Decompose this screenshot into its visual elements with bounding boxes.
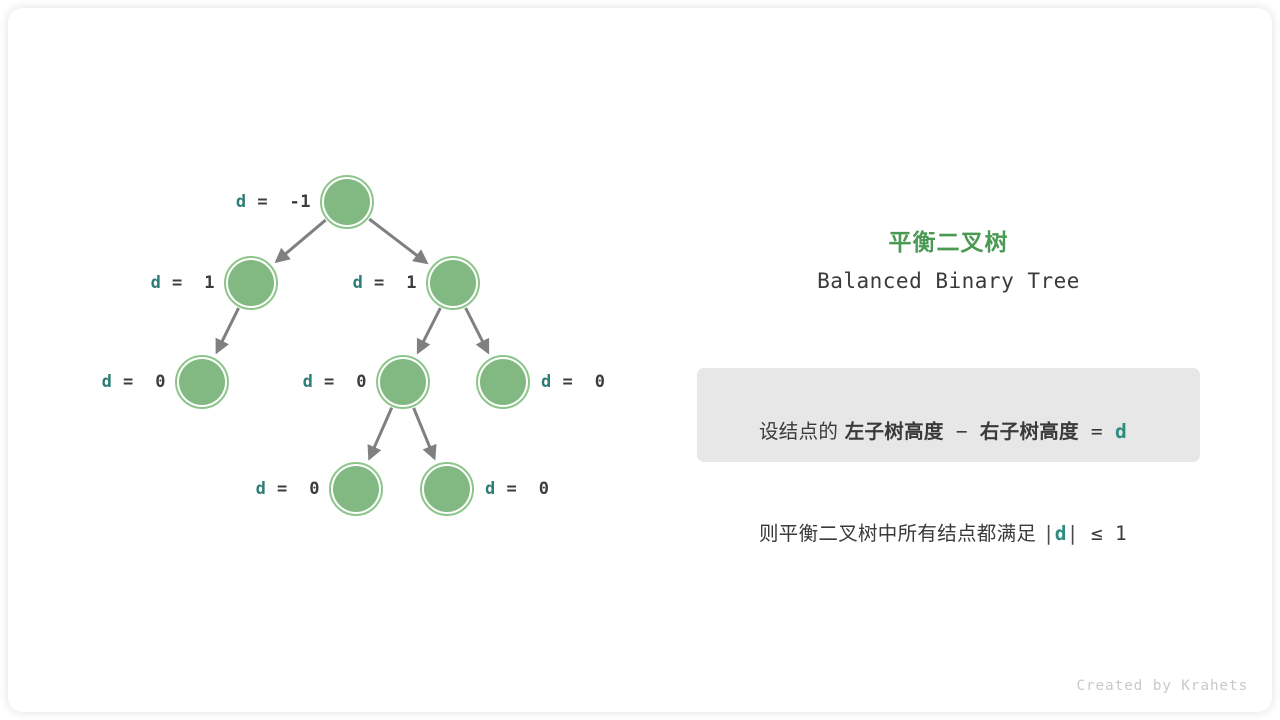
balance-value: = 1 [363,273,417,293]
node-balance-label: d = 0 [102,372,166,392]
tree-node[interactable] [480,359,526,405]
legend-panel: 平衡二叉树 Balanced Binary Tree [697,228,1200,292]
tree-edge [466,308,488,352]
tree-edge [418,308,440,352]
node-balance-label: d = 1 [151,273,215,293]
tree-node[interactable] [430,260,476,306]
variable-d: d [485,479,496,499]
variable-d: d [1115,420,1127,443]
tree-edge [369,219,426,263]
term-right-subtree-height: 右子树高度 [980,420,1079,443]
relation-leq-one: ≤ 1 [1079,522,1127,545]
variable-d: d [353,273,364,293]
tree-node[interactable] [424,466,470,512]
node-balance-label: d = 0 [303,372,367,392]
diagram-stage: d = -1d = 1d = 1d = 0d = 0d = 0d = 0d = … [0,0,1280,720]
balance-value: = 0 [266,479,320,499]
page-title: 平衡二叉树 [697,228,1200,255]
tree-nodes [176,176,529,515]
balance-value: = 0 [496,479,550,499]
node-balance-label: d = 1 [353,273,417,293]
tree-node[interactable] [324,179,370,225]
tree-node[interactable] [179,359,225,405]
variable-d: d [303,372,314,392]
variable-d: d [236,192,247,212]
tree-edges [217,219,488,458]
definition-line-1: 设结点的 左子树高度 − 右子树高度 = d [697,381,1200,483]
tree-edge [277,220,326,261]
condition-prefix: 则平衡二叉树中所有结点都满足 [759,522,1043,545]
balance-value: = 0 [112,372,166,392]
node-balance-label: d = 0 [485,479,549,499]
variable-d: d [256,479,267,499]
node-balance-label: d = -1 [236,192,311,212]
node-balance-label: d = 0 [256,479,320,499]
balance-value: = -1 [247,192,311,212]
definition-prefix: 设结点的 [759,420,845,443]
tree-node[interactable] [228,260,274,306]
definition-box: 设结点的 左子树高度 − 右子树高度 = d 则平衡二叉树中所有结点都满足 |d… [697,368,1200,462]
binary-tree-diagram [0,0,1280,720]
credit-text: Created by Krahets [1076,678,1248,694]
abs-bar-close: | [1067,522,1079,545]
tree-edge [217,308,239,352]
tree-node[interactable] [380,359,426,405]
term-left-subtree-height: 左子树高度 [845,420,944,443]
minus-operator: − [944,420,980,443]
balance-value: = 0 [552,372,606,392]
tree-node[interactable] [333,466,379,512]
variable-d: d [1055,522,1067,545]
equals-operator: = [1079,420,1115,443]
page-subtitle: Balanced Binary Tree [697,271,1200,292]
node-balance-label: d = 0 [541,372,605,392]
variable-d: d [541,372,552,392]
definition-line-2: 则平衡二叉树中所有结点都满足 |d| ≤ 1 [697,483,1200,585]
balance-value: = 1 [161,273,215,293]
variable-d: d [102,372,113,392]
variable-d: d [151,273,162,293]
tree-edge [369,408,391,459]
abs-bar-open: | [1043,522,1055,545]
balance-value: = 0 [313,372,367,392]
tree-edge [414,408,435,458]
